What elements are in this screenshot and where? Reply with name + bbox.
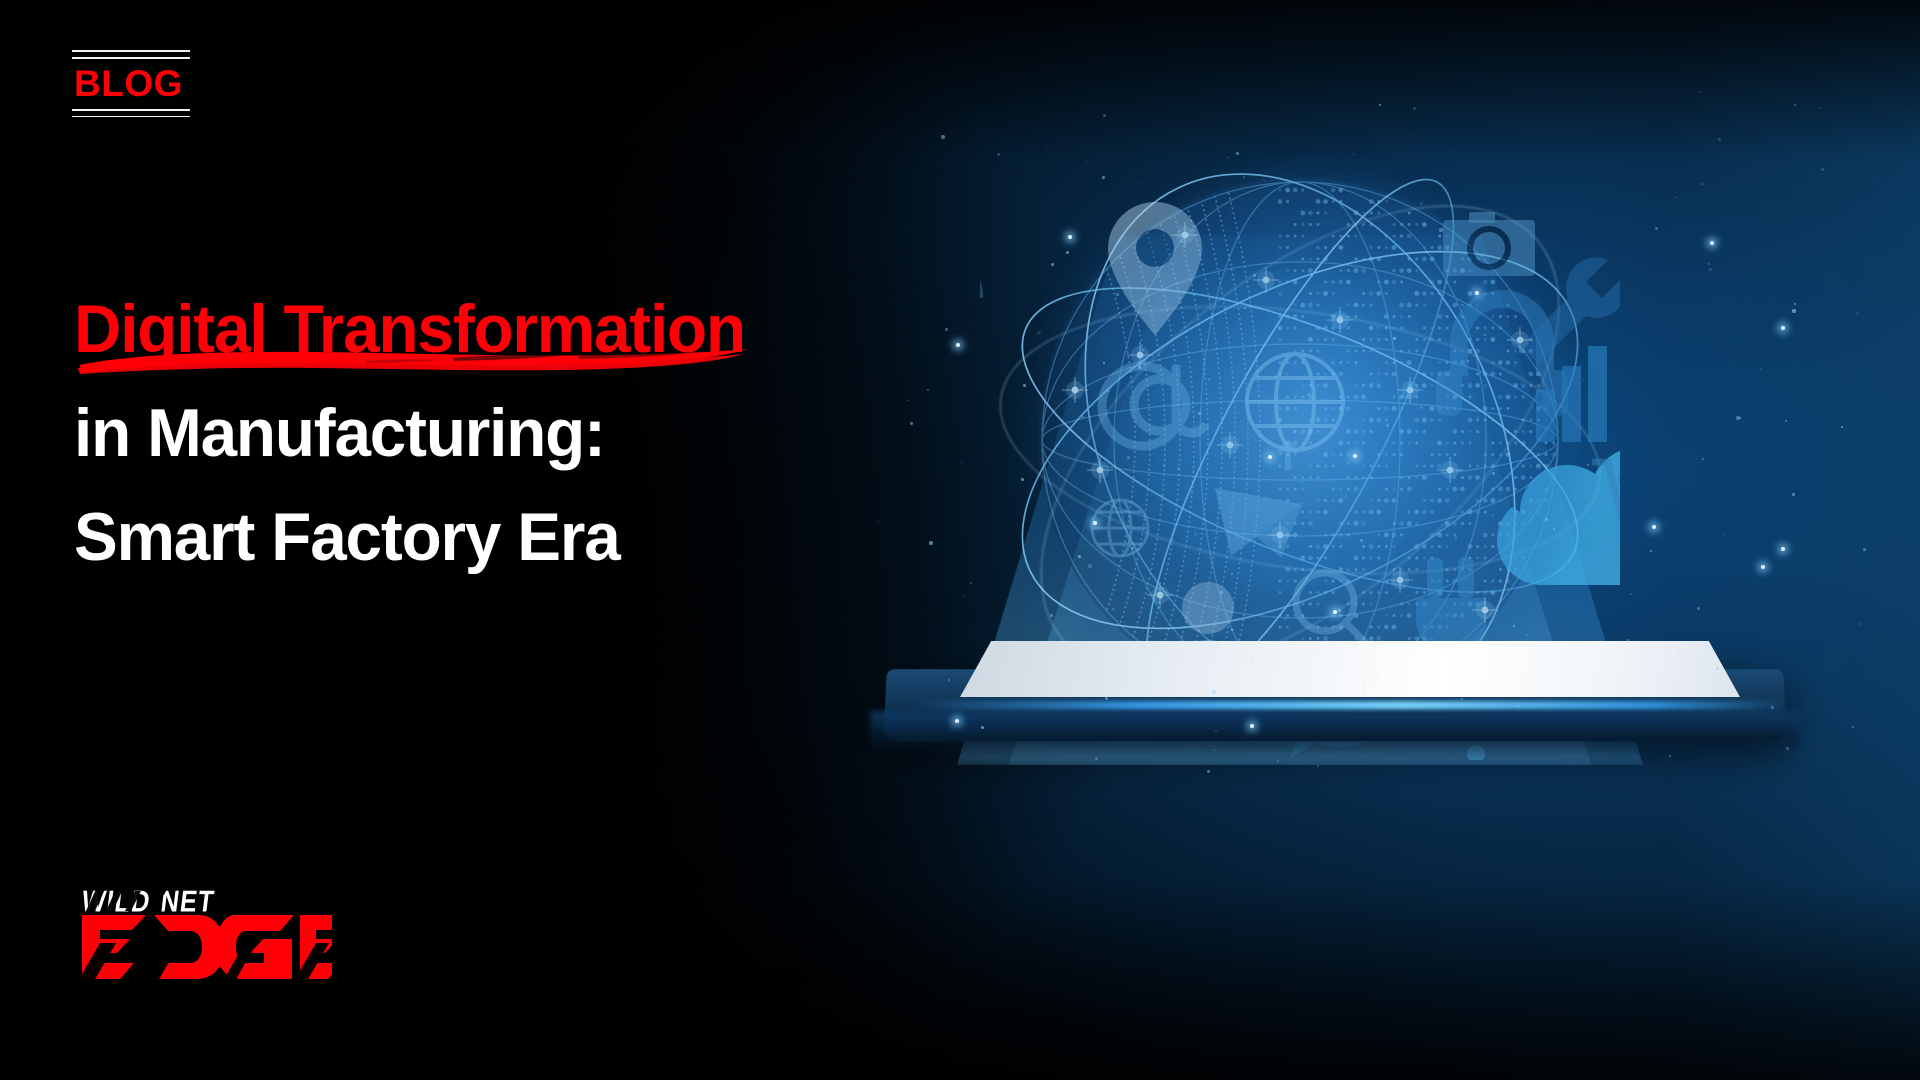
- headline-block: Digital Transformation in Manufacturing:…: [74, 277, 894, 589]
- badge-label: BLOG: [72, 59, 190, 109]
- hologram-artwork: [830, 60, 1920, 1080]
- headline-line-1-text: Digital Transformation: [74, 291, 745, 367]
- blog-badge: BLOG: [72, 50, 190, 117]
- tablet-device: [850, 635, 1860, 795]
- badge-rule-bottom-2: [72, 116, 190, 118]
- headline-line-3-text: Smart Factory Era: [74, 499, 620, 575]
- tablet-screen: [960, 641, 1740, 697]
- tablet-shadow: [870, 711, 1800, 757]
- logo-svg: WILD NET: [72, 877, 332, 985]
- banner-canvas: BLOG Digital Transformation in Manufactu…: [0, 0, 1920, 1080]
- logo-edge-wordmark: [82, 915, 332, 979]
- headline-line-2: in Manufacturing:: [74, 381, 865, 485]
- users-group-icon: [980, 220, 981, 296]
- logo-top-wordmark: WILD NET: [80, 883, 217, 918]
- wildnet-edge-logo[interactable]: WILD NET: [72, 877, 332, 985]
- headline-line-2-text: in Manufacturing:: [74, 395, 605, 471]
- logo-net-text: NET: [159, 885, 217, 919]
- headline-line-3: Smart Factory Era: [74, 485, 865, 589]
- tablet-edge-light: [910, 701, 1790, 710]
- headline-line-1: Digital Transformation: [74, 277, 865, 381]
